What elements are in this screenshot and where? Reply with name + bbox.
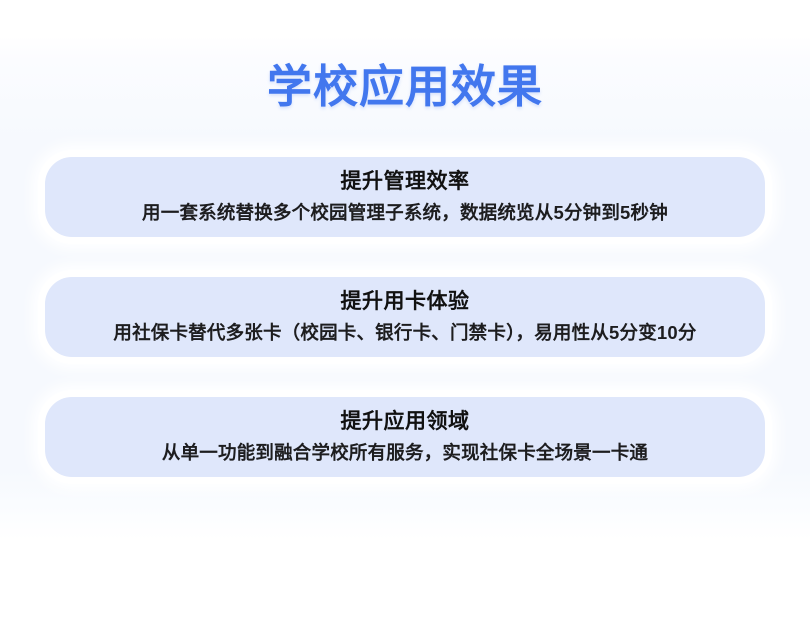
card-title: 提升管理效率 xyxy=(341,168,470,196)
school-effect-page: 学校应用效果 提升管理效率 用一套系统替换多个校园管理子系统，数据统览从5分钟到… xyxy=(0,0,810,622)
card-description: 从单一功能到融合学校所有服务，实现社保卡全场景一卡通 xyxy=(162,440,648,466)
card-frame: 提升用卡体验 用社保卡替代多张卡（校园卡、银行卡、门禁卡），易用性从5分变10分 xyxy=(38,270,772,364)
page-title: 学校应用效果 xyxy=(0,58,810,116)
card-frame: 提升应用领域 从单一功能到融合学校所有服务，实现社保卡全场景一卡通 xyxy=(38,390,772,484)
effect-card-management-efficiency[interactable]: 提升管理效率 用一套系统替换多个校园管理子系统，数据统览从5分钟到5秒钟 xyxy=(45,157,765,237)
effect-card-list: 提升管理效率 用一套系统替换多个校园管理子系统，数据统览从5分钟到5秒钟 提升用… xyxy=(0,150,810,484)
card-description: 用社保卡替代多张卡（校园卡、银行卡、门禁卡），易用性从5分变10分 xyxy=(113,320,696,346)
effect-card-application-scope[interactable]: 提升应用领域 从单一功能到融合学校所有服务，实现社保卡全场景一卡通 xyxy=(45,397,765,477)
card-title: 提升用卡体验 xyxy=(341,288,470,316)
card-title: 提升应用领域 xyxy=(341,408,470,436)
card-frame: 提升管理效率 用一套系统替换多个校园管理子系统，数据统览从5分钟到5秒钟 xyxy=(38,150,772,244)
card-description: 用一套系统替换多个校园管理子系统，数据统览从5分钟到5秒钟 xyxy=(142,200,668,226)
effect-card-card-experience[interactable]: 提升用卡体验 用社保卡替代多张卡（校园卡、银行卡、门禁卡），易用性从5分变10分 xyxy=(45,277,765,357)
